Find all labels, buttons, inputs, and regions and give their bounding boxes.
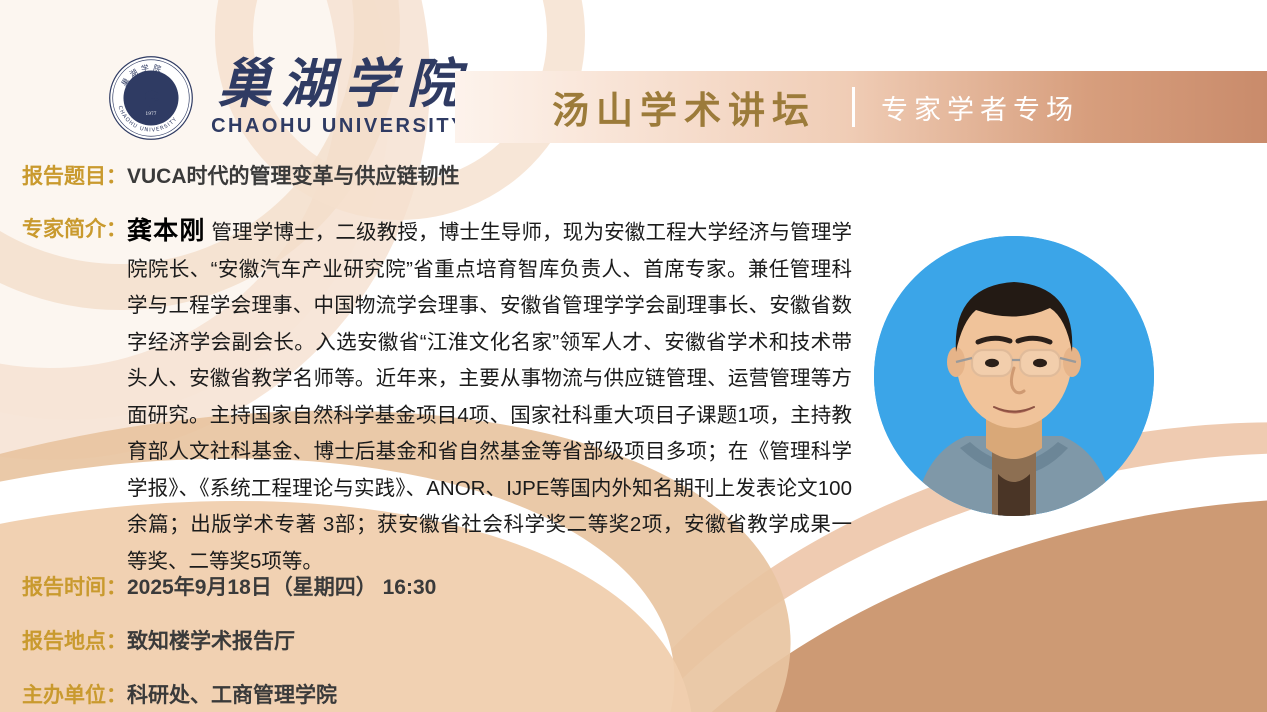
- talk-time-value: 2025年9月18日（星期四） 16:30: [127, 571, 436, 601]
- talk-title-label: 报告题目：: [22, 160, 127, 190]
- speaker-bio-row: 专家简介： 龚本刚 管理学博士，二级教授，博士生导师，现为安徽工程大学经济与管理…: [22, 213, 852, 580]
- talk-title-value: VUCA时代的管理变革与供应链韧性: [127, 160, 460, 190]
- talk-time-label: 报告时间：: [22, 571, 127, 601]
- speaker-portrait: [874, 236, 1154, 516]
- talk-place-value: 致知楼学术报告厅: [127, 625, 295, 655]
- talk-organizer-value: 科研处、工商管理学院: [127, 679, 337, 709]
- poster-root: 1977 巢湖学院 CHAOHU UNIVERSITY 巢湖学院 CHAOHU …: [0, 0, 1267, 712]
- speaker-bio-label: 专家简介：: [22, 213, 127, 243]
- talk-place-row: 报告地点： 致知楼学术报告厅: [22, 625, 295, 655]
- talk-organizer-row: 主办单位： 科研处、工商管理学院: [22, 679, 337, 709]
- talk-organizer-label: 主办单位：: [22, 679, 127, 709]
- talk-time-row: 报告时间： 2025年9月18日（星期四） 16:30: [22, 571, 436, 601]
- speaker-bio-text: 龚本刚 管理学博士，二级教授，博士生导师，现为安徽工程大学经济与管理学院院长、“…: [127, 213, 852, 580]
- speaker-name: 龚本刚: [127, 217, 206, 245]
- talk-place-label: 报告地点：: [22, 625, 127, 655]
- speaker-bio-body: 管理学博士，二级教授，博士生导师，现为安徽工程大学经济与管理学院院长、“安徽汽车…: [127, 221, 852, 573]
- talk-title-row: 报告题目： VUCA时代的管理变革与供应链韧性: [22, 160, 460, 190]
